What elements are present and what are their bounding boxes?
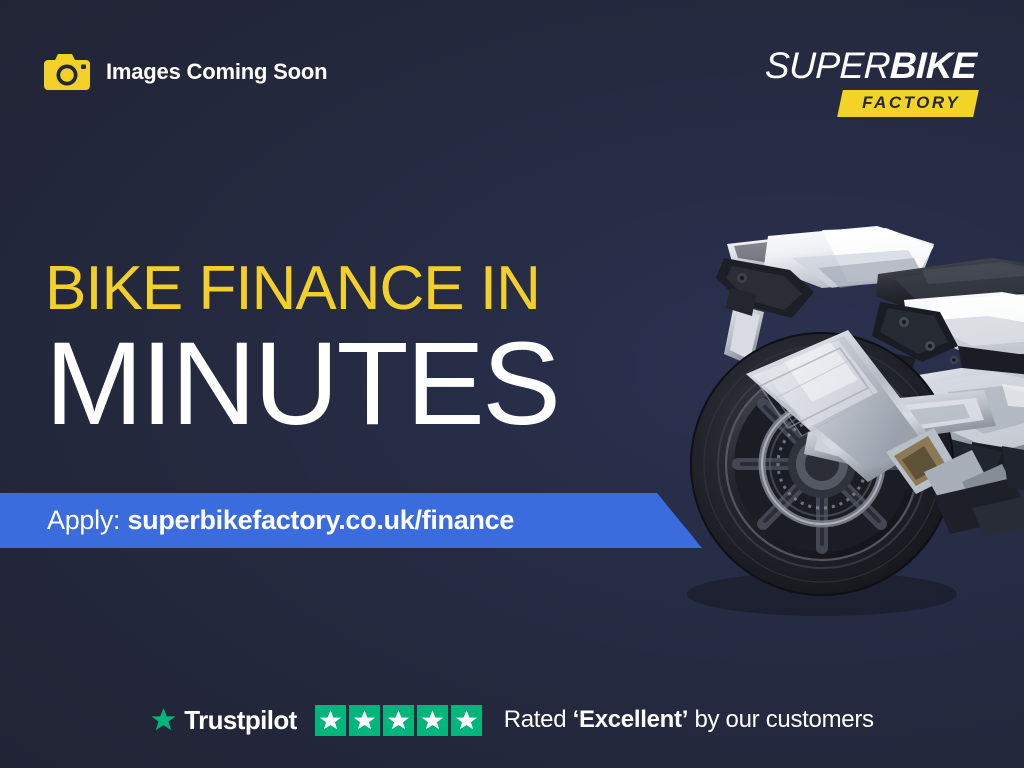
headline-line-2: MINUTES	[45, 328, 559, 440]
rating-word: ‘Excellent’	[573, 706, 688, 733]
logo-factory-banner: FACTORY	[837, 90, 979, 117]
trustpilot-logo-text: Trustpilot	[184, 705, 296, 736]
headline: BIKE FINANCE IN MINUTES	[45, 258, 559, 440]
trustpilot-rating-row: Trustpilot Rated ‘Excellent’ by our cust…	[0, 697, 1024, 743]
trustpilot-star-rating	[315, 705, 482, 736]
star-icon	[315, 705, 346, 736]
star-icon	[417, 705, 448, 736]
star-icon	[349, 705, 380, 736]
superbike-factory-logo: SUPERBIKE FACTORY	[766, 46, 976, 120]
apply-url-label[interactable]: superbikefactory.co.uk/finance	[127, 505, 514, 535]
apply-text: Apply: superbikefactory.co.uk/finance	[47, 505, 514, 536]
images-coming-soon: Images Coming Soon	[44, 53, 327, 91]
logo-super-text: SUPER	[764, 45, 890, 86]
top-bar: Images Coming Soon SUPERBIKE FACTORY	[0, 0, 1024, 140]
rating-suffix: by our customers	[688, 706, 874, 733]
promo-banner: Images Coming Soon SUPERBIKE FACTORY BIK…	[0, 0, 1024, 768]
star-icon	[451, 705, 482, 736]
logo-bike-text: BIKE	[889, 45, 977, 86]
star-icon	[383, 705, 414, 736]
trustpilot-logo: Trustpilot	[150, 705, 296, 736]
trustpilot-rating-text: Rated ‘Excellent’ by our customers	[504, 706, 874, 734]
logo-wordmark: SUPERBIKE	[764, 46, 977, 86]
rating-prefix: Rated	[504, 706, 573, 733]
headline-line-1: BIKE FINANCE IN	[45, 258, 559, 320]
apply-prefix-label: Apply:	[47, 505, 127, 535]
camera-icon	[44, 53, 90, 91]
apply-banner[interactable]: Apply: superbikefactory.co.uk/finance	[0, 493, 702, 548]
logo-factory-text: FACTORY	[862, 93, 960, 113]
star-icon	[150, 707, 177, 733]
images-coming-soon-label: Images Coming Soon	[106, 59, 327, 85]
